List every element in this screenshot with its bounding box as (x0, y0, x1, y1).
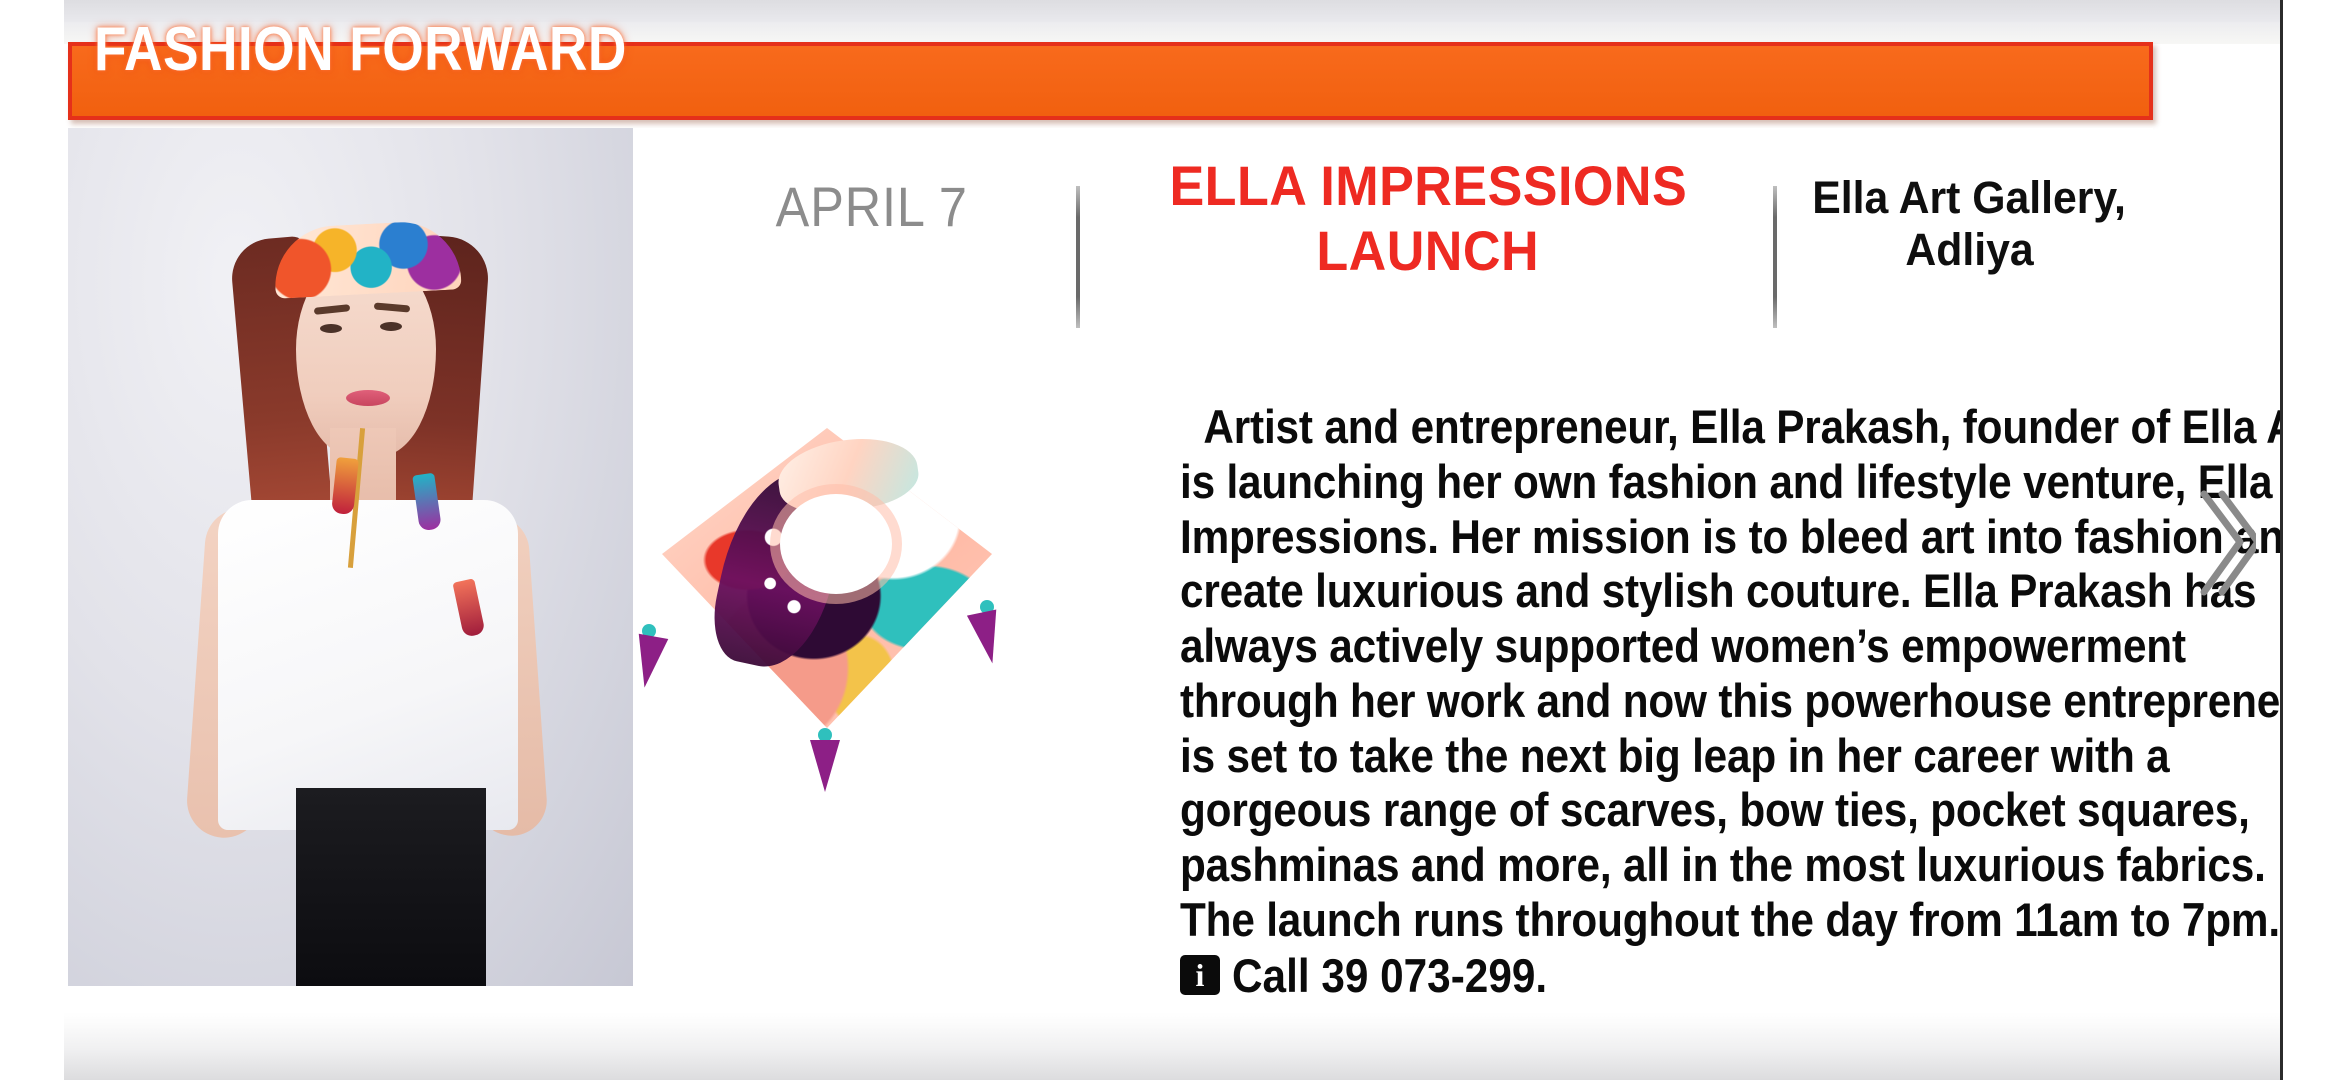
event-venue: Ella Art Gallery, Adliya (1786, 172, 2153, 276)
scarf-loop-opening (780, 494, 892, 594)
scarf-tassel-body-left (630, 634, 669, 690)
description-line: is set to take the next big leap in her … (1180, 729, 2165, 784)
contact-line: i Call 39 073-299. (1180, 950, 2165, 1002)
scarf-tassel-body-bottom (810, 740, 840, 792)
event-title-line-1: ELLA IMPRESSIONS (1169, 154, 1687, 219)
scarf-graphic (628, 398, 1028, 798)
event-title: ELLA IMPRESSIONS LAUNCH (1088, 154, 1768, 284)
model-eye-left (320, 324, 342, 333)
info-icon-glyph: i (1196, 959, 1205, 991)
right-margin (2283, 0, 2327, 1080)
header-divider-2 (1773, 186, 1777, 328)
scarf-photo (628, 398, 1028, 798)
model-eye-right (380, 322, 402, 331)
event-date: APRIL 7 (668, 176, 1076, 238)
info-icon: i (1180, 955, 1220, 995)
event-card: APRIL 7 ELLA IMPRESSIONS LAUNCH Ella Art… (68, 128, 2153, 1008)
page-root: FASHION FORWARD (0, 0, 2327, 1080)
scarf-tassel-body-right (967, 609, 1007, 666)
event-venue-line-2: Adliya (1905, 224, 2033, 276)
model-photo (68, 128, 633, 986)
model-white-top (218, 500, 518, 830)
description-line: gorgeous range of scarves, bow ties, poc… (1180, 783, 2165, 838)
description-line: create luxurious and stylish couture. El… (1180, 564, 2165, 619)
model-lips (346, 390, 390, 406)
description-line: through her work and now this powerhouse… (1180, 674, 2165, 729)
description-line: is launching her own fashion and lifesty… (1180, 455, 2165, 510)
description-line: Artist and entrepreneur, Ella Prakash, f… (1180, 400, 2165, 455)
section-header-bar: FASHION FORWARD (68, 42, 2153, 120)
description-line: pashminas and more, all in the most luxu… (1180, 838, 2165, 893)
model-black-skirt (296, 788, 486, 986)
section-title: FASHION FORWARD (94, 50, 713, 112)
event-venue-line-1: Ella Art Gallery, (1813, 172, 2127, 224)
left-margin (0, 0, 64, 1080)
header-divider-1 (1076, 186, 1080, 328)
description-line: Impressions. Her mission is to bleed art… (1180, 510, 2165, 565)
description-line: always actively supported women’s empowe… (1180, 619, 2165, 674)
chevron-right-icon[interactable] (2196, 480, 2256, 610)
event-header-row: APRIL 7 ELLA IMPRESSIONS LAUNCH Ella Art… (668, 146, 2153, 356)
bottom-page-shadow (64, 1012, 2280, 1080)
event-date-text: APRIL 7 (776, 176, 968, 238)
event-description: Artist and entrepreneur, Ella Prakash, f… (1180, 400, 2165, 1001)
event-title-line-2: LAUNCH (1317, 219, 1540, 284)
section-title-text: FASHION FORWARD (94, 19, 627, 81)
clipped-headline-text (214, 0, 914, 9)
next-page-button[interactable] (2196, 480, 2256, 610)
contact-phone: Call 39 073-299. (1232, 950, 1582, 1002)
description-line: The launch runs throughout the day from … (1180, 893, 2165, 948)
